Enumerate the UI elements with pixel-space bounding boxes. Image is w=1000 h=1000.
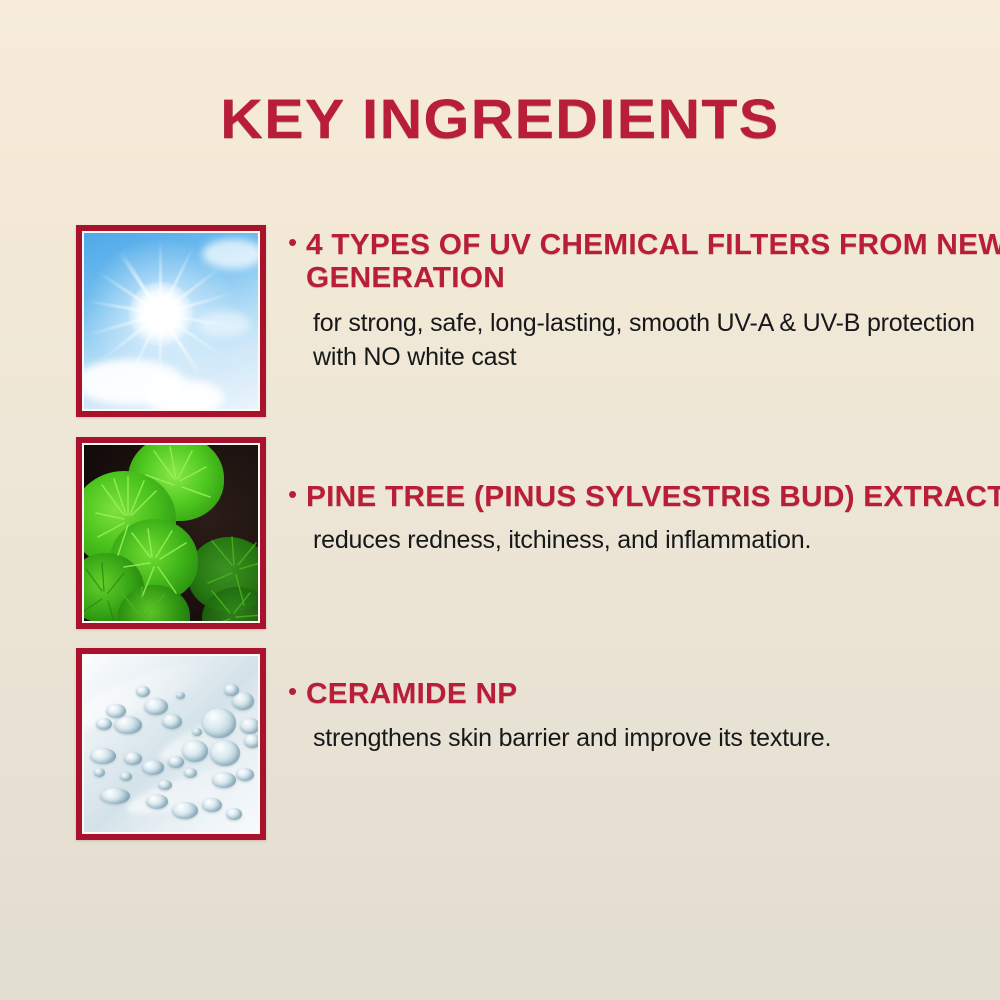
ingredient-heading: CERAMIDE NP <box>306 678 517 711</box>
ingredient-text-pine-tree: • PINE TREE (PINUS SYLVESTRIS BUD) EXTRA… <box>288 437 988 557</box>
ingredient-text-uv-filters: • 4 TYPES OF UV CHEMICAL FILTERS FROM NE… <box>288 225 988 374</box>
water-droplet <box>168 756 184 768</box>
water-droplet <box>96 718 112 730</box>
water-droplet <box>120 772 132 781</box>
water-droplet <box>236 768 254 781</box>
water-droplet <box>240 718 258 734</box>
ingredient-description: reduces redness, itchiness, and inflamma… <box>313 523 988 557</box>
ingredient-row-pine-tree: • PINE TREE (PINUS SYLVESTRIS BUD) EXTRA… <box>76 437 988 629</box>
water-droplet <box>192 728 202 736</box>
water-droplets-photo-frame <box>76 648 266 840</box>
ingredient-description: strengthens skin barrier and improve its… <box>313 721 988 755</box>
water-droplet <box>158 780 172 790</box>
pine-tree-needles-photo-frame <box>76 437 266 629</box>
water-droplet <box>244 734 258 748</box>
ingredient-description: for strong, safe, long-lasting, smooth U… <box>313 306 988 374</box>
water-droplet <box>162 714 182 729</box>
water-droplet <box>212 772 236 788</box>
pine-needle-detail <box>84 445 258 621</box>
water-droplet <box>184 768 197 778</box>
bullet-icon: • <box>288 227 297 257</box>
ingredient-heading-line: • 4 TYPES OF UV CHEMICAL FILTERS FROM NE… <box>288 229 988 295</box>
ingredient-heading-line: • PINE TREE (PINUS SYLVESTRIS BUD) EXTRA… <box>288 481 988 514</box>
ingredient-row-uv-filters: • 4 TYPES OF UV CHEMICAL FILTERS FROM NE… <box>76 225 988 417</box>
water-droplet <box>106 704 126 718</box>
water-droplet <box>202 708 236 738</box>
ingredient-row-ceramide-np: • CERAMIDE NP strengthens skin barrier a… <box>76 648 988 840</box>
water-droplet <box>136 686 150 697</box>
page-title-wrap: KEY INGREDIENTS <box>0 86 1000 151</box>
bullet-icon: • <box>288 676 297 706</box>
water-droplet <box>144 698 168 715</box>
water-droplet <box>210 740 240 766</box>
water-droplet <box>90 748 116 764</box>
water-droplet <box>94 768 105 777</box>
sun-in-blue-sky-photo <box>84 233 258 409</box>
ingredient-heading-line: • CERAMIDE NP <box>288 678 988 711</box>
pine-background <box>84 445 258 621</box>
water-droplet <box>100 788 130 804</box>
sun-in-blue-sky-photo-frame <box>76 225 266 417</box>
water-droplet <box>142 760 164 775</box>
water-droplet <box>182 740 208 762</box>
water-droplet <box>226 808 242 820</box>
water-droplet <box>114 716 142 734</box>
water-droplet <box>146 794 168 809</box>
bullet-icon: • <box>288 479 297 509</box>
cloud-icon <box>146 379 224 409</box>
ingredient-heading: 4 TYPES OF UV CHEMICAL FILTERS FROM NEW … <box>306 229 1000 295</box>
ingredient-text-ceramide-np: • CERAMIDE NP strengthens skin barrier a… <box>288 648 988 755</box>
pine-tree-needles-photo <box>84 445 258 621</box>
sky-background <box>84 233 258 409</box>
water-droplet <box>124 752 142 765</box>
water-droplets-photo <box>84 656 258 832</box>
water-droplet <box>224 684 239 696</box>
water-droplet <box>202 798 222 812</box>
water-droplet <box>172 802 198 819</box>
page-title: KEY INGREDIENTS <box>220 86 779 151</box>
sun-icon <box>129 282 193 346</box>
ingredient-heading: PINE TREE (PINUS SYLVESTRIS BUD) EXTRACT <box>306 481 1000 514</box>
water-droplet <box>176 692 185 699</box>
gel-surface-background <box>84 656 258 832</box>
